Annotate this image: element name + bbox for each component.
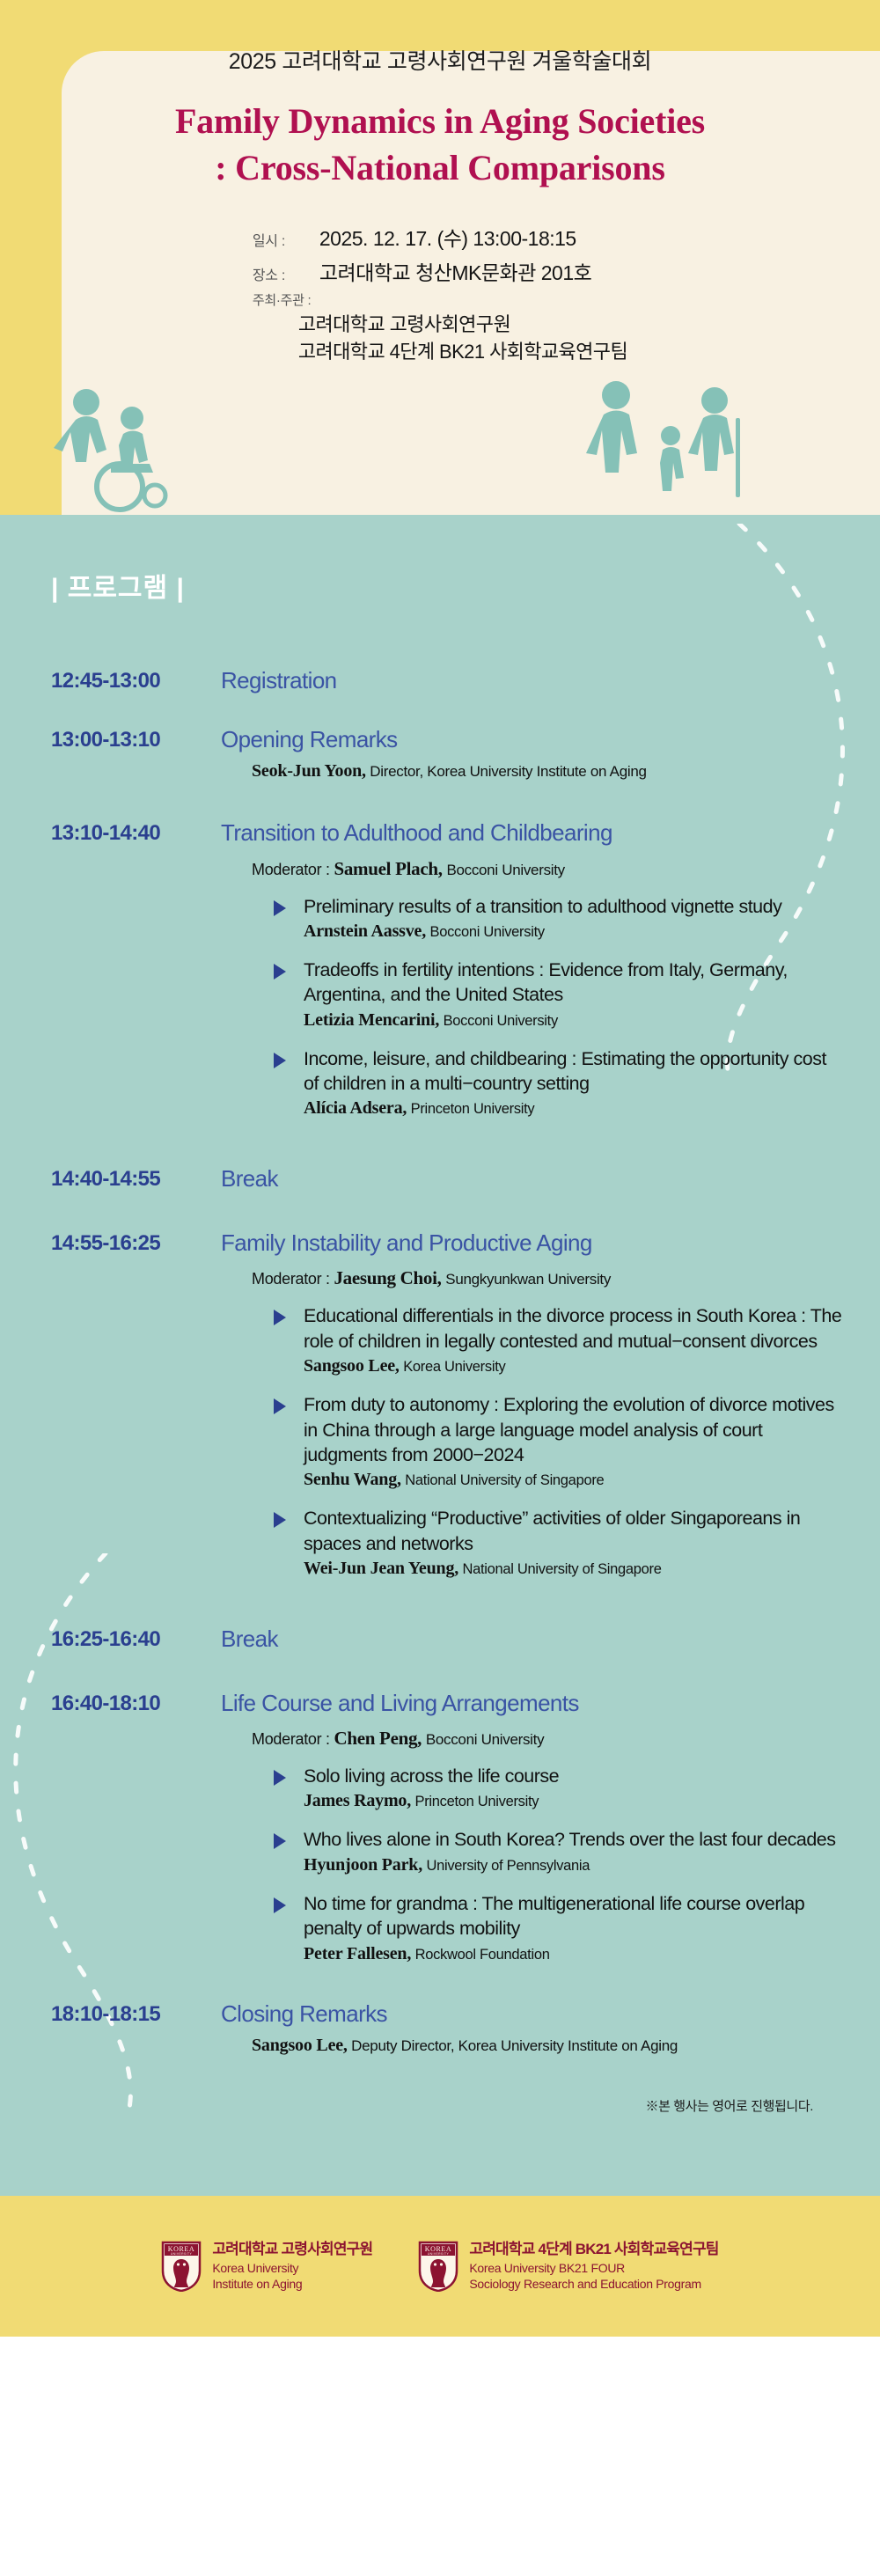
talk-speaker-name: Sangsoo Lee, — [304, 1356, 400, 1376]
talk-speaker-name: Hyunjoon Park, — [304, 1855, 422, 1875]
program-heading: | 프로그램 | — [51, 566, 845, 605]
program-item-closing-remarks: 18:10-18:15 Closing Remarks Sangsoo Lee,… — [51, 2000, 845, 2059]
talk-speaker: James Raymo, Princeton University — [304, 1789, 845, 1813]
conference-poster: 2025 고려대학교 고령사회연구원 겨울학술대회 Family Dynamic… — [0, 0, 880, 2337]
talk-speaker: Senhu Wang, National University of Singa… — [304, 1468, 845, 1492]
program-time: 12:45-13:00 — [51, 666, 221, 694]
talk-item: From duty to autonomy : Exploring the ev… — [274, 1392, 845, 1492]
program-time: 14:55-16:25 — [51, 1229, 221, 1257]
moderator-affiliation: Bocconi University — [426, 1731, 544, 1748]
talk-item: Who lives alone in South Korea? Trends o… — [274, 1827, 845, 1876]
talk-speaker-affiliation: National University of Singapore — [405, 1472, 604, 1488]
triangle-bullet-icon — [274, 1512, 286, 1528]
talk-speaker: Alícia Adsera, Princeton University — [304, 1097, 845, 1120]
program-body: Transition to Adulthood and Childbearing… — [221, 818, 845, 1134]
talk-item: Contextualizing “Productive” activities … — [274, 1506, 845, 1581]
logo-institute-on-aging: KOREA UNIVERSITY 고려대학교 고령사회연구원 Korea Uni… — [161, 2241, 372, 2292]
program-body: Closing Remarks Sangsoo Lee, Deputy Dire… — [221, 2000, 845, 2059]
program-title: Registration — [221, 666, 845, 695]
triangle-bullet-icon — [274, 1310, 286, 1325]
program-title: Break — [221, 1164, 845, 1193]
program-time: 14:40-14:55 — [51, 1164, 221, 1193]
talk-speaker-name: Wei-Jun Jean Yeung, — [304, 1559, 458, 1578]
triangle-bullet-icon — [274, 1398, 286, 1414]
talk-speaker: Wei-Jun Jean Yeung, National University … — [304, 1557, 845, 1581]
moderator-name: Chen Peng, — [334, 1728, 422, 1749]
program-item-break-1: 14:40-14:55 Break — [51, 1164, 845, 1193]
program-item-break-2: 16:25-16:40 Break — [51, 1625, 845, 1654]
session-talk-list: Solo living across the life course James… — [274, 1764, 845, 1966]
talk-title: Income, leisure, and childbearing : Esti… — [304, 1046, 845, 1097]
talk-item: Income, leisure, and childbearing : Esti… — [274, 1046, 845, 1121]
host-line-1: 고려대학교 고령사회연구원 — [253, 311, 627, 338]
talk-speaker-name: Senhu Wang, — [304, 1470, 401, 1489]
talk-title: Tradeoffs in fertility intentions : Evid… — [304, 958, 845, 1008]
talk-speaker-name: Peter Fallesen, — [304, 1944, 411, 1963]
triangle-bullet-icon — [274, 1897, 286, 1913]
talk-title: Educational differentials in the divorce… — [304, 1303, 845, 1354]
session-talk-list: Educational differentials in the divorce… — [274, 1303, 845, 1581]
talk-item: No time for grandma : The multigeneratio… — [274, 1891, 845, 1966]
talk-speaker: Peter Fallesen, Rockwool Foundation — [304, 1942, 845, 1966]
program-footnote: ※본 행사는 영어로 진행됩니다. — [51, 2096, 845, 2115]
host-line-2: 고려대학교 4단계 BK21 사회학교육연구팀 — [253, 338, 627, 365]
talk-title: Preliminary results of a transition to a… — [304, 894, 845, 919]
program-body: Life Course and Living Arrangements Mode… — [221, 1689, 845, 1980]
program-title: Closing Remarks — [221, 2000, 845, 2029]
talk-speaker-affiliation: National University of Singapore — [463, 1561, 662, 1577]
host-block: 주최·주관 : 고려대학교 고령사회연구원 고려대학교 4단계 BK21 사회학… — [253, 290, 627, 365]
event-meta: 일시 : 2025. 12. 17. (수) 13:00-18:15 장소 : … — [253, 222, 627, 365]
date-value: 2025. 12. 17. (수) 13:00-18:15 — [319, 222, 576, 252]
talk-item: Solo living across the life course James… — [274, 1764, 845, 1813]
talk-speaker: Letizia Mencarini, Bocconi University — [304, 1009, 845, 1032]
talk-title: Contextualizing “Productive” activities … — [304, 1506, 845, 1556]
session-talk-list: Preliminary results of a transition to a… — [274, 894, 845, 1121]
talk-title: Solo living across the life course — [304, 1764, 845, 1788]
logo-korean-name: 고려대학교 4단계 BK21 사회학교육연구팀 — [469, 2241, 718, 2258]
moderator-affiliation: Bocconi University — [446, 862, 564, 878]
moderator-label: Moderator : — [252, 1730, 330, 1748]
venue-row: 장소 : 고려대학교 청산MK문화관 201호 — [253, 256, 627, 286]
logo-english-line-1: Korea University — [212, 2261, 372, 2277]
korean-conference-title: 2025 고려대학교 고령사회연구원 겨울학술대회 — [0, 44, 880, 76]
english-title-line-2: : Cross-National Comparisons — [0, 145, 880, 192]
english-title-line-1: Family Dynamics in Aging Societies — [175, 101, 705, 141]
logo-english-line-1: Korea University BK21 FOUR — [469, 2261, 718, 2277]
logo-text-block: 고려대학교 4단계 BK21 사회학교육연구팀 Korea University… — [469, 2241, 718, 2292]
venue-value: 고려대학교 청산MK문화관 201호 — [319, 256, 591, 286]
program-body: Registration — [221, 666, 845, 695]
triangle-bullet-icon — [274, 1833, 286, 1849]
talk-item: Preliminary results of a transition to a… — [274, 894, 845, 943]
speaker-name: Seok-Jun Yoon, — [252, 761, 366, 781]
talk-speaker: Hyunjoon Park, University of Pennsylvani… — [304, 1853, 845, 1877]
talk-speaker-affiliation: University of Pennsylvania — [426, 1858, 590, 1874]
speaker-name: Sangsoo Lee, — [252, 2036, 348, 2055]
program-time: 16:40-18:10 — [51, 1689, 221, 1717]
talk-speaker-name: Letizia Mencarini, — [304, 1010, 439, 1030]
program-title: Opening Remarks — [221, 725, 845, 754]
logo-text-block: 고려대학교 고령사회연구원 Korea University Institute… — [212, 2241, 372, 2292]
speaker-affiliation: Deputy Director, Korea University Instit… — [351, 2037, 678, 2054]
program-item-session-life-course: 16:40-18:10 Life Course and Living Arran… — [51, 1689, 845, 1980]
program-time: 16:25-16:40 — [51, 1625, 221, 1653]
logo-english-line-2: Institute on Aging — [212, 2277, 372, 2293]
program-item-opening-remarks: 13:00-13:10 Opening Remarks Seok-Jun Yoo… — [51, 725, 845, 784]
moderator-label: Moderator : — [252, 1270, 330, 1288]
talk-title: No time for grandma : The multigeneratio… — [304, 1891, 845, 1941]
session-title: Life Course and Living Arrangements — [221, 1689, 845, 1718]
talk-speaker-affiliation: Bocconi University — [429, 924, 544, 940]
moderator-affiliation: Sungkyunkwan University — [445, 1271, 611, 1288]
talk-speaker-name: James Raymo, — [304, 1791, 411, 1810]
program-item-session-family-instability: 14:55-16:25 Family Instability and Produ… — [51, 1229, 845, 1595]
program-speaker: Sangsoo Lee, Deputy Director, Korea Univ… — [252, 2033, 845, 2058]
korea-university-crest-icon: KOREA UNIVERSITY — [418, 2241, 458, 2292]
talk-speaker: Arnstein Aassve, Bocconi University — [304, 920, 845, 943]
svg-text:UNIVERSITY: UNIVERSITY — [171, 2252, 193, 2256]
talk-speaker-name: Alícia Adsera, — [304, 1098, 407, 1118]
logo-bk21-sociology: KOREA UNIVERSITY 고려대학교 4단계 BK21 사회학교육연구팀… — [418, 2241, 718, 2292]
talk-speaker: Sangsoo Lee, Korea University — [304, 1354, 845, 1378]
talk-title: Who lives alone in South Korea? Trends o… — [304, 1827, 845, 1852]
hero-banner: 2025 고려대학교 고령사회연구원 겨울학술대회 Family Dynamic… — [0, 0, 880, 515]
program-body: Break — [221, 1164, 845, 1193]
program-item-session-transition-to-adulthood: 13:10-14:40 Transition to Adulthood and … — [51, 818, 845, 1134]
program-body: Opening Remarks Seok-Jun Yoon, Director,… — [221, 725, 845, 784]
session-moderator: Moderator : Samuel Plach, Bocconi Univer… — [252, 858, 845, 880]
program-inner: | 프로그램 | 12:45-13:00 Registration 13:00-… — [0, 566, 880, 2115]
venue-label: 장소 : — [253, 263, 319, 284]
host-label: 주최·주관 : — [253, 290, 627, 309]
english-conference-title: Family Dynamics in Aging Societies : Cro… — [0, 99, 880, 192]
moderator-name: Samuel Plach, — [334, 858, 442, 879]
program-time: 13:00-13:10 — [51, 725, 221, 753]
svg-text:UNIVERSITY: UNIVERSITY — [428, 2252, 450, 2256]
talk-item: Tradeoffs in fertility intentions : Evid… — [274, 958, 845, 1032]
program-body: Break — [221, 1625, 845, 1654]
speaker-affiliation: Director, Korea University Institute on … — [370, 763, 646, 780]
date-row: 일시 : 2025. 12. 17. (수) 13:00-18:15 — [253, 222, 627, 252]
moderator-label: Moderator : — [252, 861, 330, 878]
triangle-bullet-icon — [274, 1770, 286, 1786]
date-label: 일시 : — [253, 229, 319, 250]
session-title: Family Instability and Productive Aging — [221, 1229, 845, 1258]
triangle-bullet-icon — [274, 1053, 286, 1068]
talk-speaker-affiliation: Rockwool Foundation — [415, 1947, 550, 1963]
session-moderator: Moderator : Chen Peng, Bocconi Universit… — [252, 1728, 845, 1750]
program-body: Family Instability and Productive Aging … — [221, 1229, 845, 1595]
talk-item: Educational differentials in the divorce… — [274, 1303, 845, 1378]
program-speaker: Seok-Jun Yoon, Director, Korea Universit… — [252, 759, 845, 783]
program-title: Break — [221, 1625, 845, 1654]
talk-speaker-affiliation: Princeton University — [411, 1101, 535, 1117]
program-time: 18:10-18:15 — [51, 2000, 221, 2028]
korea-university-crest-icon: KOREA UNIVERSITY — [161, 2241, 202, 2292]
session-title: Transition to Adulthood and Childbearing — [221, 818, 845, 848]
program-time: 13:10-14:40 — [51, 818, 221, 847]
talk-title: From duty to autonomy : Exploring the ev… — [304, 1392, 845, 1467]
talk-speaker-affiliation: Princeton University — [414, 1794, 539, 1809]
talk-speaker-name: Arnstein Aassve, — [304, 921, 426, 941]
logo-english-line-2: Sociology Research and Education Program — [469, 2277, 718, 2293]
triangle-bullet-icon — [274, 900, 286, 916]
talk-speaker-affiliation: Korea University — [403, 1359, 505, 1375]
footer-logos: KOREA UNIVERSITY 고려대학교 고령사회연구원 Korea Uni… — [0, 2196, 880, 2337]
talk-speaker-affiliation: Bocconi University — [444, 1013, 558, 1029]
moderator-name: Jaesung Choi, — [334, 1267, 441, 1288]
program-item-registration: 12:45-13:00 Registration — [51, 666, 845, 695]
logo-korean-name: 고려대학교 고령사회연구원 — [212, 2241, 372, 2258]
triangle-bullet-icon — [274, 964, 286, 980]
hero-content: 2025 고려대학교 고령사회연구원 겨울학술대회 Family Dynamic… — [0, 0, 880, 365]
program-section: | 프로그램 | 12:45-13:00 Registration 13:00-… — [0, 515, 880, 2196]
session-moderator: Moderator : Jaesung Choi, Sungkyunkwan U… — [252, 1267, 845, 1289]
